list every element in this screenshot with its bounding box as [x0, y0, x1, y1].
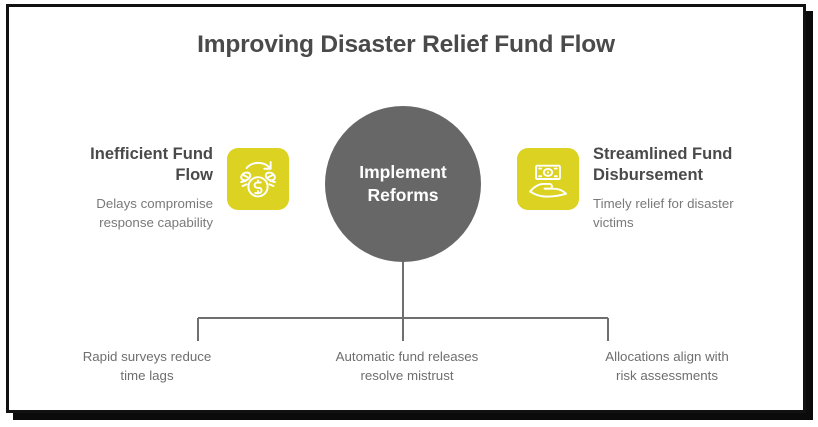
side-description-left: Delays compromise response capability [33, 195, 213, 232]
side-heading-left: Inefficient Fund Flow [33, 144, 213, 186]
side-description-right: Timely relief for disaster victims [593, 195, 773, 232]
outcome-caption-1: Rapid surveys reduce time lags [9, 348, 277, 386]
page-title: Improving Disaster Relief Fund Flow [9, 31, 803, 59]
outcome-caption-3: Allocations align with risk assessments [537, 348, 803, 386]
bottom-captions: Rapid surveys reduce time lags Automatic… [9, 348, 803, 386]
hand-cash-icon [526, 157, 570, 201]
infographic-canvas: Improving Disaster Relief Fund Flow Impl… [9, 7, 803, 410]
money-cycle-icon [236, 157, 280, 201]
side-block-streamlined-fund-disbursement: Streamlined Fund Disbursement Timely rel… [517, 144, 795, 232]
center-node-label: Implement Reforms [359, 161, 447, 207]
infographic-frame: Improving Disaster Relief Fund Flow Impl… [6, 4, 806, 413]
side-block-inefficient-fund-flow: Inefficient Fund Flow Delays compromise … [33, 144, 305, 232]
side-text-left: Inefficient Fund Flow Delays compromise … [33, 144, 227, 232]
center-node: Implement Reforms [325, 106, 481, 262]
side-heading-right: Streamlined Fund Disbursement [593, 144, 773, 186]
side-text-right: Streamlined Fund Disbursement Timely rel… [579, 144, 773, 232]
icon-tile-left [227, 148, 289, 210]
outcome-caption-2: Automatic fund releases resolve mistrust [277, 348, 537, 386]
icon-tile-right [517, 148, 579, 210]
